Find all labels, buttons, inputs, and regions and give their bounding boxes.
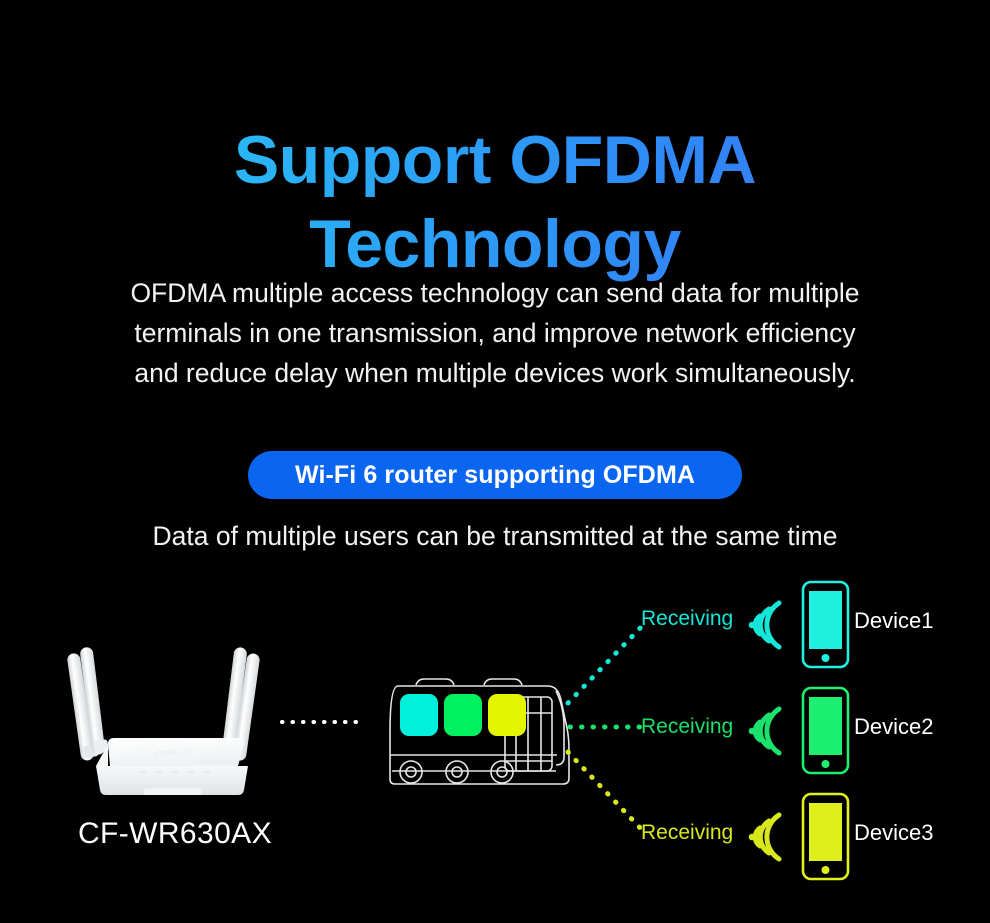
smartphone-icon-2 bbox=[803, 688, 848, 773]
smartphone-icon-3 bbox=[803, 794, 848, 879]
bus-window-group bbox=[400, 694, 526, 736]
description-paragraph: OFDMA multiple access technology can sen… bbox=[120, 273, 870, 393]
stream-link-1 bbox=[568, 623, 645, 703]
wifi-signal-icon-2 bbox=[749, 709, 779, 753]
stream-link-3 bbox=[568, 752, 645, 833]
bus-window-2 bbox=[444, 694, 482, 736]
ofdma-diagram: COMFAST CF-WR630AX Receiving Receiving R… bbox=[0, 555, 990, 923]
smartphone-icon-1 bbox=[803, 582, 848, 667]
stream-status-1: Receiving bbox=[641, 607, 733, 631]
page-title: Support OFDMA Technology bbox=[0, 118, 990, 286]
wifi-signal-icon-1 bbox=[749, 603, 779, 647]
stream-status-2: Receiving bbox=[641, 715, 733, 739]
device-label-3: Device3 bbox=[854, 820, 933, 846]
router-model-label: CF-WR630AX bbox=[40, 817, 310, 851]
diagram-caption: Data of multiple users can be transmitte… bbox=[0, 521, 990, 552]
router-brand-mark: COMFAST bbox=[155, 751, 192, 757]
promo-page: Support OFDMA Technology OFDMA multiple … bbox=[0, 0, 990, 923]
stream-status-3: Receiving bbox=[641, 821, 733, 845]
wifi-signal-icon-3 bbox=[749, 815, 779, 859]
router-graphic: COMFAST bbox=[62, 645, 282, 795]
device-label-1: Device1 bbox=[854, 608, 933, 634]
feature-badge: Wi-Fi 6 router supporting OFDMA bbox=[248, 451, 742, 499]
router-device: COMFAST bbox=[62, 645, 282, 795]
bus-window-3 bbox=[488, 694, 526, 736]
bus-window-1 bbox=[400, 694, 438, 736]
device-label-2: Device2 bbox=[854, 714, 933, 740]
